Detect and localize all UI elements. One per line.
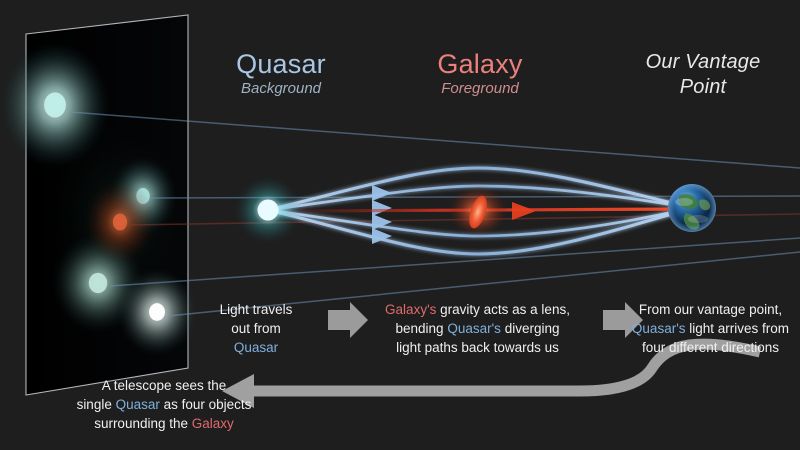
diagram-canvas: Quasar Background Galaxy Foreground Our … xyxy=(0,0,800,450)
step-4-line-3-pre: surrounding the xyxy=(94,416,192,431)
step-3-line-3: four different directions xyxy=(618,338,800,357)
step-4-galaxy-word: Galaxy xyxy=(192,416,234,431)
step-4-quasar-word: Quasar xyxy=(116,397,160,412)
step-1-line-2: out from xyxy=(196,319,316,338)
step-1-line-3: Quasar xyxy=(234,340,278,355)
step-4-line-2-post: as four objects xyxy=(160,397,252,412)
step-4-caption: A telescope sees the single Quasar as fo… xyxy=(30,376,298,433)
step-3-line-2-rest: light arrives from xyxy=(686,321,790,336)
step-1-line-1: Light travels xyxy=(196,300,316,319)
step-4-line-1: A telescope sees the xyxy=(30,376,298,395)
step-2-line-1-rest: gravity acts as a lens, xyxy=(436,302,570,317)
step-2-line-3: light paths back towards us xyxy=(360,338,595,357)
step-3-line-1: From our vantage point, xyxy=(618,300,800,319)
step-2-line-2-post: diverging xyxy=(501,321,560,336)
step-3-caption: From our vantage point, Quasar's light a… xyxy=(618,300,800,357)
step-2-line-2-pre: bending xyxy=(396,321,448,336)
step-2-quasar-word: Quasar's xyxy=(447,321,501,336)
step-2-galaxy-word: Galaxy's xyxy=(385,302,436,317)
step-4-line-2-pre: single xyxy=(77,397,116,412)
step-2-caption: Galaxy's gravity acts as a lens, bending… xyxy=(360,300,595,357)
step-3-quasar-word: Quasar's xyxy=(632,321,686,336)
step-1-caption: Light travels out from Quasar xyxy=(196,300,316,357)
